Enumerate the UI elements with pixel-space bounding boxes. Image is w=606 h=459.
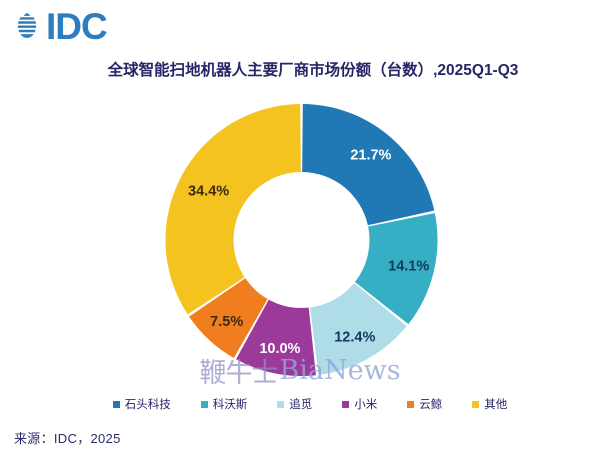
slice-data-label: 12.4% [334, 329, 375, 345]
donut-slices [166, 104, 438, 376]
slice-data-label: 21.7% [350, 147, 391, 163]
donut-slice[interactable] [302, 104, 434, 225]
legend-swatch [113, 401, 120, 408]
legend-label: 石头科技 [125, 396, 171, 412]
legend-item[interactable]: 追觅 [277, 396, 312, 412]
slice-data-label: 14.1% [388, 259, 429, 275]
legend-label: 小米 [354, 396, 377, 412]
globe-icon [10, 10, 44, 44]
legend-swatch [277, 401, 284, 408]
legend-swatch [472, 401, 479, 408]
legend-label: 追觅 [289, 396, 312, 412]
slice-data-label: 7.5% [210, 314, 243, 330]
legend-swatch [201, 401, 208, 408]
idc-logo: IDC [10, 8, 107, 45]
slice-data-label: 34.4% [188, 183, 229, 199]
legend-label: 科沃斯 [213, 396, 248, 412]
donut-slice[interactable] [166, 104, 301, 314]
logo-wordmark: IDC [46, 8, 107, 45]
legend-item[interactable]: 石头科技 [113, 396, 171, 412]
chart-title: 全球智能扫地机器人主要厂商市场份额（台数）,2025Q1-Q3 [0, 58, 606, 80]
legend-label: 云鲸 [419, 396, 442, 412]
donut-chart: 21.7%14.1%12.4%10.0%7.5%34.4% [163, 94, 440, 386]
legend-swatch [342, 401, 349, 408]
legend-item[interactable]: 云鲸 [407, 396, 442, 412]
legend-item[interactable]: 其他 [472, 396, 507, 412]
legend-item[interactable]: 小米 [342, 396, 377, 412]
legend-label: 其他 [484, 396, 507, 412]
legend-swatch [407, 401, 414, 408]
chart-legend: 石头科技科沃斯追觅小米云鲸其他 [0, 396, 606, 412]
source-note: 来源：IDC，2025 [14, 428, 121, 447]
legend-item[interactable]: 科沃斯 [201, 396, 248, 412]
slice-data-label: 10.0% [259, 341, 300, 357]
